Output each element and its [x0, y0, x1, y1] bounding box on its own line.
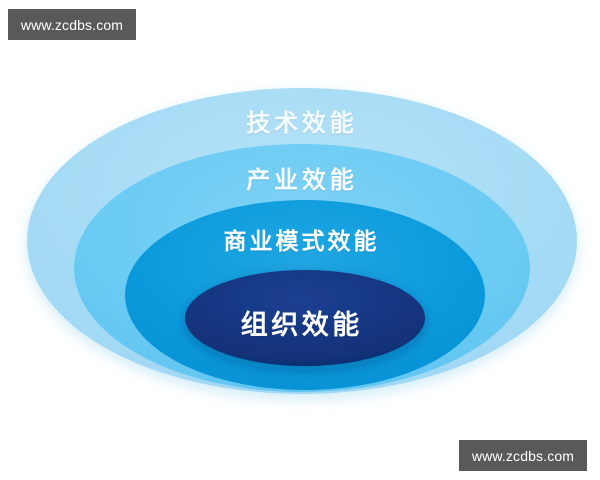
- ellipse-layer-group: [27, 88, 577, 394]
- ellipse-layer-4-organization[interactable]: [185, 270, 425, 366]
- watermark-top-left: www.zcdbs.com: [8, 9, 136, 40]
- diagram-canvas: 技术效能 产业效能 商业模式效能 组织效能 www.zcdbs.com www.…: [0, 0, 600, 480]
- nested-ellipse-diagram: [0, 0, 600, 480]
- watermark-bottom-right: www.zcdbs.com: [459, 440, 587, 471]
